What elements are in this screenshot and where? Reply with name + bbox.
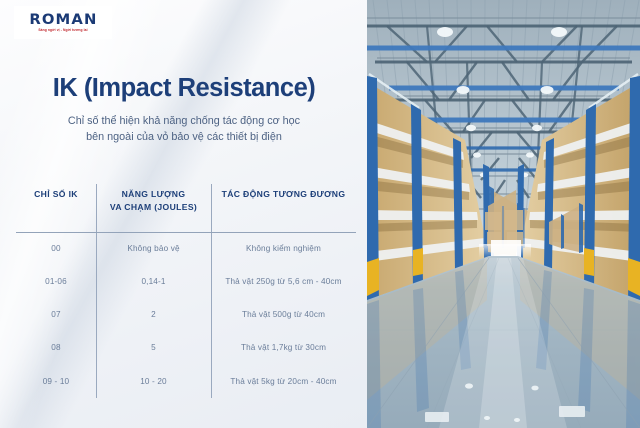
infographic-canvas: ROMAN Sáng ngời vị - Ngời tương lai IK (… xyxy=(0,0,640,428)
cell-impact-energy: 0,14-1 xyxy=(96,277,211,286)
cell-ik-index: 07 xyxy=(16,310,96,319)
cell-equivalent-impact: Thả vật 250g từ 5,6 cm - 40cm xyxy=(211,277,356,286)
page-subtitle: Chỉ số thể hiện khả năng chống tác động … xyxy=(0,113,368,146)
page-subtitle-line-1: Chỉ số thể hiện khả năng chống tác động … xyxy=(0,113,368,129)
table-header-impact-energy: NĂNG LƯỢNG VA CHẠM (JOULES) xyxy=(96,188,211,214)
cell-ik-index: 09 - 10 xyxy=(16,377,96,386)
brand-logo-wordmark: ROMAN xyxy=(29,13,97,28)
table-header-ik-index-line1: CHỈ SỐ IK xyxy=(16,188,96,201)
ik-rating-table: CHỈ SỐ IK NĂNG LƯỢNG VA CHẠM (JOULES) TÁ… xyxy=(16,184,356,398)
table-header-ik-index: CHỈ SỐ IK xyxy=(16,188,96,201)
cell-impact-energy: 10 - 20 xyxy=(96,377,211,386)
table-header-impact-energy-line2: VA CHẠM (JOULES) xyxy=(96,201,211,214)
page-title: IK (Impact Resistance) xyxy=(0,74,368,103)
table-row: 09 - 10 10 - 20 Thả vật 5kg từ 20cm - 40… xyxy=(16,365,356,398)
cell-ik-index: 01-06 xyxy=(16,277,96,286)
table-header-row: CHỈ SỐ IK NĂNG LƯỢNG VA CHẠM (JOULES) TÁ… xyxy=(16,184,356,232)
cell-impact-energy: 2 xyxy=(96,310,211,319)
cell-equivalent-impact: Thả vật 500g từ 40cm xyxy=(211,310,356,319)
cell-impact-energy: 5 xyxy=(96,343,211,352)
cell-impact-energy: Không bảo vệ xyxy=(96,244,211,253)
table-header-equivalent-impact-line1: TÁC ĐỘNG TƯƠNG ĐƯƠNG xyxy=(211,188,356,201)
table-row: 00 Không bảo vệ Không kiểm nghiệm xyxy=(16,232,356,265)
cell-equivalent-impact: Không kiểm nghiệm xyxy=(211,244,356,253)
page-subtitle-line-2: bên ngoài của vỏ bảo vệ các thiết bị điệ… xyxy=(0,129,368,145)
cell-ik-index: 00 xyxy=(16,244,96,253)
cell-ik-index: 08 xyxy=(16,343,96,352)
brand-logo-tagline: Sáng ngời vị - Ngời tương lai xyxy=(38,29,87,32)
brand-logo: ROMAN Sáng ngời vị - Ngời tương lai xyxy=(14,6,112,39)
table-row: 08 5 Thả vật 1,7kg từ 30cm xyxy=(16,331,356,364)
table-row: 01-06 0,14-1 Thả vật 250g từ 5,6 cm - 40… xyxy=(16,265,356,298)
table-header-impact-energy-line1: NĂNG LƯỢNG xyxy=(96,188,211,201)
cell-equivalent-impact: Thả vật 1,7kg từ 30cm xyxy=(211,343,356,352)
warehouse-photo xyxy=(367,0,640,428)
cell-equivalent-impact: Thả vật 5kg từ 20cm - 40cm xyxy=(211,377,356,386)
table-header-equivalent-impact: TÁC ĐỘNG TƯƠNG ĐƯƠNG xyxy=(211,188,356,201)
info-panel: ROMAN Sáng ngời vị - Ngời tương lai IK (… xyxy=(0,0,368,428)
table-row: 07 2 Thả vật 500g từ 40cm xyxy=(16,298,356,331)
